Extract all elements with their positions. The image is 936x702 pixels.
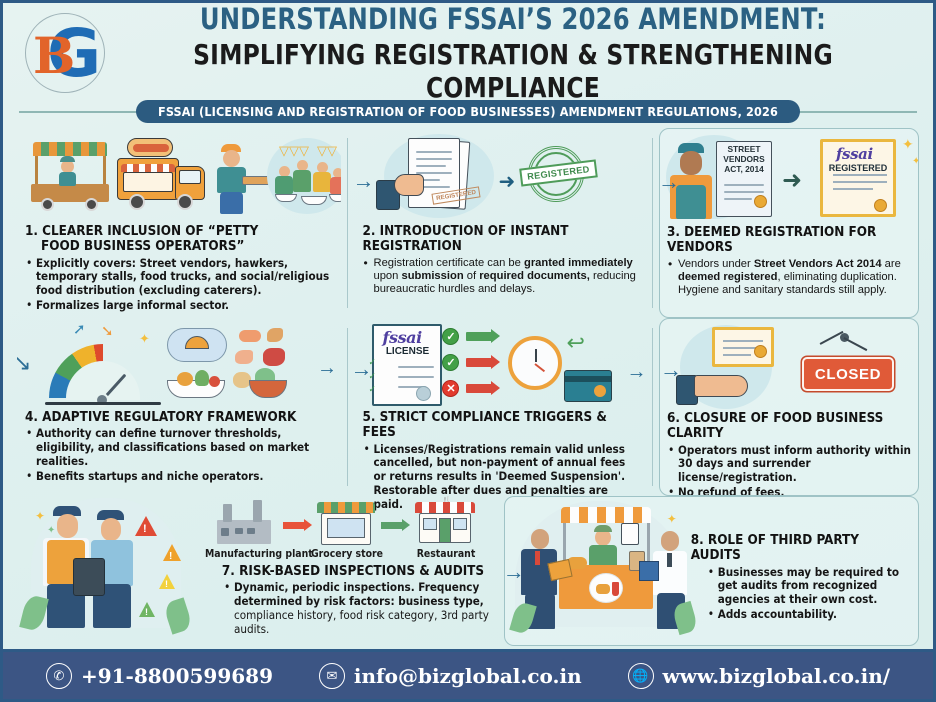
flow-arrow-3-icon: ➜ [782,169,802,193]
surrendered-seal-icon [754,345,767,358]
section-1-bullet-1: Explicitly covers: Street vendors, hawke… [25,257,333,298]
meat-icon-2 [263,348,285,366]
section-3-text: 3. DEEMED REGISTRATION FOR VENDORS Vendo… [660,225,918,298]
auditor1-head-icon [531,529,549,549]
section-1-heading: 1. CLEARER INCLUSION OF “PETTYFOOD BUSIN… [25,224,333,255]
status-arrow-green-icon [466,332,492,341]
truck-wheel-right-icon [177,194,193,210]
hawker-tray-icon [242,176,270,185]
section-1-text: 1. CLEARER INCLUSION OF “PETTYFOOD BUSIN… [17,224,341,313]
hawker-legs-icon [220,192,243,214]
food-item-3-icon [209,376,220,387]
act-document-label: STREET VENDORS ACT, 2014 [720,145,768,175]
section-8-heading: 8. ROLE OF THIRD PARTY AUDITS [691,533,913,564]
contact-footer: ✆ +91-8800599689 ✉ info@bizglobal.co.in … [3,649,933,699]
email-address: info@bizglobal.co.in [354,664,582,688]
section-8-bullet-1: Businesses may be required to get audits… [707,566,913,607]
section-7-heading: 7. RISK-BASED INSPECTIONS & AUDITS [203,564,503,579]
risk-triangle-orange-icon: ! [163,544,181,561]
section-card-4: ↘ ➚ ➘ ✦ [17,318,341,496]
section-card-6: → CLOSED 6. CLOSURE OF F [659,318,919,496]
auditor2-clipboard-icon [639,561,659,581]
art-inspectors: ✦ ✦ ! ! ! ! [17,496,207,636]
art-compliance-triggers: → fssai LICENSE ✓✓✓ ✓ ✓ ✕ ↩ [354,318,645,410]
soup-bowl-icon [249,380,287,398]
diner-body-3-icon [313,172,331,192]
auditor1-tie-icon [535,551,540,565]
diner-body-4-icon [330,177,341,194]
truck-wheel-left-icon [129,194,145,210]
section-card-5: → fssai LICENSE ✓✓✓ ✓ ✓ ✕ ↩ [354,318,645,496]
phone-number: +91-8800599689 [81,664,273,688]
process-arrow-1-icon [283,522,305,529]
restore-arrow-icon: ↩ [566,332,584,354]
certificate-seal-icon [874,199,887,212]
trend-arrow-2-icon: ➘ [101,324,114,339]
section-3-box: STREET VENDORS ACT, 2014 ➜ fssai REGISTE… [659,128,919,318]
restaurant-icon: 🍴 [413,496,479,546]
page-title-line-2: SIMPLIFYING REGISTRATION & STRENGTHENING… [141,38,885,104]
sign-string-right-icon [844,337,868,351]
sparkle-icon-1: ✦ [902,137,914,151]
art-third-party-audits: → [504,499,703,639]
poster-header: G B UNDERSTANDING FSSAI’S 2026 AMENDMENT… [3,3,933,98]
regulation-banner-wrap: FSSAI (LICENSING AND REGISTRATION OF FOO… [3,98,933,124]
gauge-base-icon [45,402,161,405]
infographic-poster: G B UNDERSTANDING FSSAI’S 2026 AMENDMENT… [0,0,936,702]
footer-website[interactable]: 🌐 www.bizglobal.co.in/ [628,663,891,689]
section-7-text: 7. RISK-BASED INSPECTIONS & AUDITS Dynam… [203,564,503,637]
bunting-icon-2: ▽▽ [317,144,337,157]
license-word-label: LICENSE [372,346,442,357]
inspector1-head-icon [57,514,78,538]
section-2-bullet-1: Registration certificate can be granted … [362,257,637,297]
poultry-icon [267,328,283,342]
section-6-bullet-1: Operators must inform authority within 3… [667,444,911,485]
bunting-icon: ▽▽▽ [279,144,309,157]
bizglobal-logo: G B [17,9,113,97]
section-6-heading: 6. CLOSURE OF FOOD BUSINESS CLARITY [667,411,911,442]
process-arrow-2-icon [381,522,403,529]
content-row-2: ↘ ➚ ➘ ✦ [3,318,933,496]
divider-2-3 [652,138,653,308]
stall-menu-icon [621,523,639,545]
section-1-bullet-2: Formalizes large informal sector. [25,299,333,313]
stall-vendor-body-icon [589,545,617,567]
meat-icon-1 [235,350,253,364]
divider-1-2 [347,138,348,308]
leaf-icon-3 [509,601,536,635]
section-card-3: STREET VENDORS ACT, 2014 ➜ fssai REGISTE… [659,128,919,318]
trend-arrow-1-icon: ➚ [73,322,86,337]
website-url: www.bizglobal.co.in/ [663,664,891,688]
diner-body-2-icon [293,170,311,192]
header-titles: UNDERSTANDING FSSAI’S 2026 AMENDMENT: SI… [113,2,921,104]
hotdog-sign-icon [127,138,173,157]
stall-awning-icon [561,507,651,523]
act-seal-icon [754,195,767,208]
license-checklist-icon: ✓✓✓ [368,356,376,397]
content-row-3: ✦ ✦ ! ! ! ! [3,496,933,646]
art-deemed-registration: STREET VENDORS ACT, 2014 ➜ fssai REGISTE… [660,129,918,225]
phone-icon: ✆ [46,663,72,689]
inflow-arrow-3-icon: → [660,171,680,193]
section-8-box: → [504,496,919,646]
section-6-text: 6. CLOSURE OF FOOD BUSINESS CLARITY Oper… [660,411,918,496]
food-truck-service-window-icon [123,172,173,192]
auditor2-head-icon [661,531,679,551]
flow-arrow-5-icon: → [626,362,645,382]
sparkle-icon-2: ✦ [912,157,918,167]
page-title-line-1: UNDERSTANDING FSSAI’S 2026 AMENDMENT: [141,2,885,36]
risk-triangle-red-icon: ! [135,516,157,536]
cart-wheel-right-icon [85,198,98,211]
flow-arrow-2-icon: ➜ [498,172,515,192]
art-street-vendors: ▽▽▽ ▽▽ → [17,128,341,224]
section-card-2: → REGISTERED ➜ REGISTERED [354,128,645,318]
art-adaptive-framework: ↘ ➚ ➘ ✦ [17,318,341,410]
vendor-cap-icon [60,156,75,162]
section-7-bullet-1: Dynamic, periodic inspections. Frequency… [223,581,503,636]
food-truck-window-icon [179,170,201,184]
cart-canopy-icon [33,142,107,156]
hawker-head-icon [223,150,240,167]
food-item-1-icon [177,372,193,386]
auditor2-tie-icon [667,553,672,567]
manufacturing-plant-icon [209,500,281,546]
content-row-1: ▽▽▽ ▽▽ → 1. CLEARER INCLUSION OF “PETTYF… [3,128,933,318]
process-label-3: Restaurant [411,548,481,560]
divider-5-6 [652,328,653,486]
section-8-bullet-2: Adds accountability. [707,608,913,622]
envelope-icon: ✉ [319,663,345,689]
certificate-status-label: REGISTERED [822,163,894,173]
art-business-closure: → CLOSED [660,319,918,411]
gauge-needle-group [49,344,157,402]
check-icon-2: ✓ [442,354,459,371]
flow-arrow-1-icon: → [333,216,341,224]
vendor3-apron-icon [676,185,706,219]
food-item-2-icon [195,370,209,386]
diner-body-1-icon [275,176,293,194]
section-3-bullet-1: Vendors under Street Vendors Act 2014 ar… [667,258,911,298]
section-6-box: → CLOSED 6. CLOSURE OF F [659,318,919,496]
clipboard-icon [73,558,105,596]
fssai-brand-label: fssai [836,145,873,163]
globe-icon: 🌐 [628,663,654,689]
section-4-bullet-1: Authority can define turnover thresholds… [25,427,333,468]
seafood-icon [239,330,261,342]
flow-arrow-4-icon: → [317,358,337,378]
section-7-right: 🍴 Manufacturing plant Grocery store Rest… [205,496,507,646]
closed-sign: CLOSED [802,357,894,391]
regulation-banner: FSSAI (LICENSING AND REGISTRATION OF FOO… [136,100,800,123]
hand-icon [394,174,424,196]
grocery-store-icon [315,500,377,546]
open-hand-icon [694,375,748,397]
vendor3-head-icon [680,151,702,175]
sparkle-icon-5: ✦ [47,526,55,536]
process-label-2: Grocery store [309,548,385,560]
inspector2-head-icon [101,518,121,541]
truck-awning-icon [121,164,175,172]
section-4-text: 4. ADAPTIVE REGULATORY FRAMEWORK Authori… [17,410,341,483]
vendor-body-icon [59,172,76,186]
art-instant-registration: → REGISTERED ➜ REGISTERED [354,128,645,224]
cart-wheel-left-icon [41,198,54,211]
risk-triangle-yellow-icon: ! [159,574,175,589]
inflow-arrow-2-icon: → [354,170,374,192]
status-arrow-red-1-icon [466,358,492,367]
stall-vendor-cap-icon [594,525,612,532]
sparkle-icon-4: ✦ [35,510,45,522]
section-card-1: ▽▽▽ ▽▽ → 1. CLEARER INCLUSION OF “PETTYF… [17,128,341,318]
logo-letter-b: B [33,31,75,81]
footer-email[interactable]: ✉ info@bizglobal.co.in [319,663,582,689]
sparkle-icon-3: ✦ [139,332,150,345]
section-4-heading: 4. ADAPTIVE REGULATORY FRAMEWORK [25,410,333,425]
clock-icon [508,336,562,390]
risk-triangle-green-icon: ! [139,602,155,617]
inflow-arrow-4-icon: ↘ [17,352,31,374]
sparkle-icon-6: ✦ [667,513,677,525]
footer-phone[interactable]: ✆ +91-8800599689 [46,663,273,689]
process-label-1: Manufacturing plant [205,548,289,560]
cross-icon-1: ✕ [442,380,459,397]
section-2-heading: 2. INTRODUCTION OF INSTANT REGISTRATION [362,224,637,255]
section-5-heading: 5. STRICT COMPLIANCE TRIGGERS & FEES [362,410,637,441]
stall-logo-badge-icon [589,573,623,603]
check-icon-1: ✓ [442,328,459,345]
section-8-text: 8. ROLE OF THIRD PARTY AUDITS Businesses… [691,533,917,623]
payment-card-icon [564,370,612,402]
divider-4-5 [347,328,348,486]
status-arrow-red-2-icon [466,384,492,393]
section-6-bullet-2: No refund of fees. [667,486,911,496]
section-card-8: → [504,496,919,646]
license-brand-label: fssai [382,328,421,347]
section-4-bullet-2: Benefits startups and niche operators. [25,470,333,484]
section-card-7: ✦ ✦ ! ! ! ! [17,496,504,646]
section-2-text: 2. INTRODUCTION OF INSTANT REGISTRATION … [354,224,645,297]
section-3-heading: 3. DEEMED REGISTRATION FOR VENDORS [667,225,911,256]
